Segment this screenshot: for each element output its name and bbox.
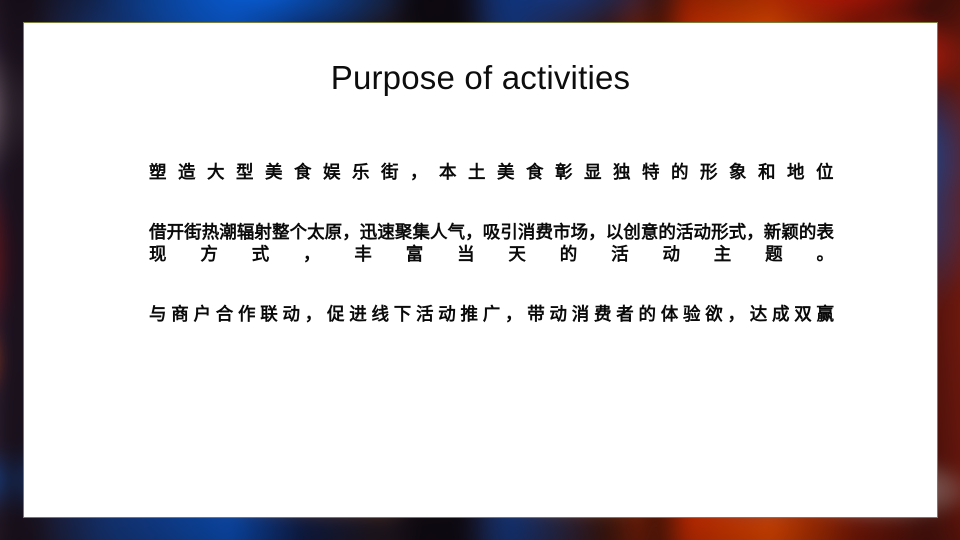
content-card: Purpose of activities 塑造大型美食娱乐街，本土美食彰显独特… xyxy=(23,22,938,518)
slide-title: Purpose of activities xyxy=(24,59,937,97)
body-paragraph-3: 与商户合作联动，促进线下活动推广，带动消费者的体验欲，达成双赢 xyxy=(149,303,834,325)
body-paragraph-1: 塑造大型美食娱乐街，本土美食彰显独特的形象和地位 xyxy=(149,161,834,183)
body-paragraph-2: 借开街热潮辐射整个太原，迅速聚集人气，吸引消费市场，以创意的活动形式，新颖的表现… xyxy=(149,221,834,265)
body-text-block: 塑造大型美食娱乐街，本土美食彰显独特的形象和地位 借开街热潮辐射整个太原，迅速聚… xyxy=(149,161,834,325)
presentation-slide: Purpose of activities 塑造大型美食娱乐街，本土美食彰显独特… xyxy=(0,0,960,540)
